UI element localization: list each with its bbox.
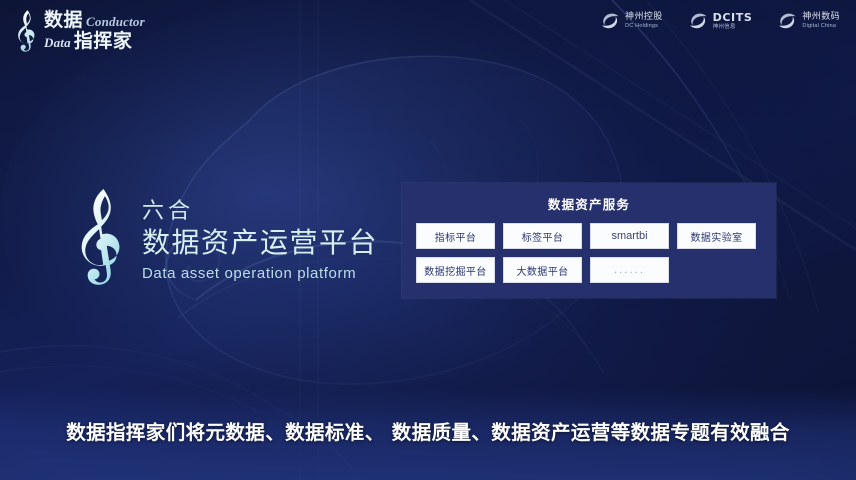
partner-digital-china: 神州数码 Digital China — [776, 10, 840, 32]
brand-line2-en: Data — [44, 36, 71, 49]
partner-name-latin: DCITS — [713, 12, 753, 24]
swoosh-icon — [599, 10, 621, 32]
partner-name-cn: 神州控股 — [625, 13, 663, 23]
title-line-1: 六合 — [142, 198, 378, 226]
swoosh-icon — [776, 10, 798, 32]
brand-line2-cn: 指挥家 — [74, 32, 133, 51]
partner-name-en: DC Holdings — [625, 23, 663, 29]
service-chip-tag-platform[interactable]: 标签平台 — [503, 223, 582, 249]
swoosh-icon — [687, 10, 709, 32]
brand-line1-cn: 数据 — [44, 11, 83, 30]
title-subtitle-en: Data asset operation platform — [142, 265, 378, 282]
data-asset-service-panel: 数据资产服务 指标平台 标签平台 smartbi 数据实验室 数据挖掘平台 大数… — [402, 183, 776, 298]
service-chip-more[interactable]: ...... — [590, 257, 669, 283]
service-chip-big-data-platform[interactable]: 大数据平台 — [503, 257, 582, 283]
brand-logo: 数据 Conductor Data 指挥家 — [14, 8, 145, 54]
treble-clef-icon — [72, 186, 128, 294]
service-chip-data-mining-platform[interactable]: 数据挖掘平台 — [416, 257, 495, 283]
partner-name-cn: 神州信息 — [713, 24, 753, 30]
service-chip-data-lab[interactable]: 数据实验室 — [677, 223, 756, 249]
service-chip-group: 指标平台 标签平台 smartbi 数据实验室 数据挖掘平台 大数据平台 ...… — [402, 213, 776, 283]
service-chip-smartbi[interactable]: smartbi — [590, 223, 669, 249]
panel-title: 数据资产服务 — [402, 194, 776, 213]
title-line-2: 数据资产运营平台 — [142, 225, 378, 262]
partner-dc-holdings: 神州控股 DC Holdings — [599, 10, 663, 32]
bottom-caption: 数据指挥家们将元数据、数据标准、 数据质量、数据资产运营等数据专题有效融合 — [0, 416, 856, 445]
service-chip-indicator-platform[interactable]: 指标平台 — [416, 223, 495, 249]
main-title-block: 六合 数据资产运营平台 Data asset operation platfor… — [72, 186, 378, 294]
slide-canvas: 数据 Conductor Data 指挥家 神州控股 DC Holdings — [0, 0, 856, 480]
partner-logos: 神州控股 DC Holdings DCITS 神州信息 — [599, 10, 840, 32]
partner-name-cn: 神州数码 — [802, 13, 840, 23]
partner-name-en: Digital China — [802, 23, 840, 29]
partner-dcits: DCITS 神州信息 — [687, 10, 753, 32]
treble-clef-icon — [14, 8, 40, 54]
brand-line1-en: Conductor — [86, 15, 145, 28]
